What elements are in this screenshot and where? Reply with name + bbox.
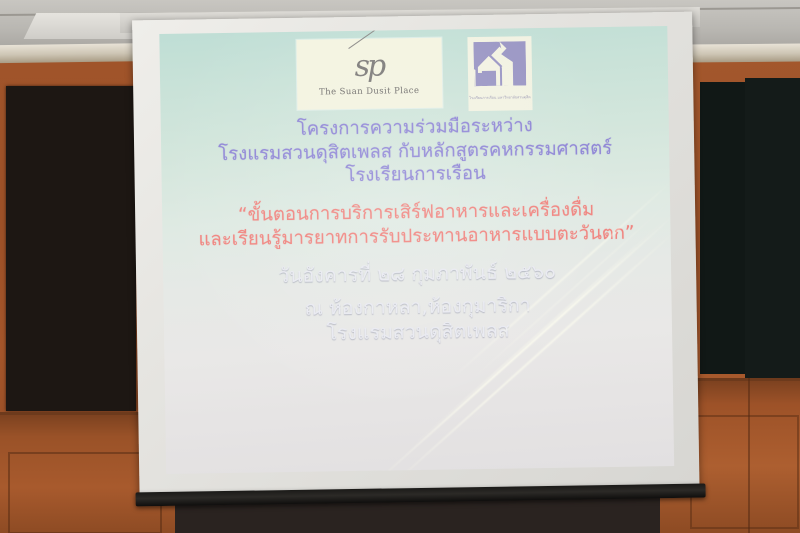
sp-monogram-text: sp xyxy=(354,48,383,83)
presentation-slide: sp The Suan Dusit Place xyxy=(159,26,674,474)
slide-text-block: โครงการความร่วมมือระหว่าง โรงแรมสวนดุสิต… xyxy=(161,112,673,349)
right-acoustic-panel-inner xyxy=(700,82,748,374)
house-icon xyxy=(473,41,526,94)
sp-monogram: sp xyxy=(354,51,383,81)
house-logo-subtext: โรงเรียนการเรือน มหาวิทยาลัยสวนดุสิต xyxy=(469,95,531,101)
home-economics-house-logo: โรงเรียนการเรือน มหาวิทยาลัยสวนดุสิต xyxy=(467,36,532,111)
suan-dusit-place-logo: sp The Suan Dusit Place xyxy=(296,38,442,110)
left-acoustic-panel xyxy=(6,86,136,411)
projection-screen: sp The Suan Dusit Place xyxy=(132,12,700,521)
slide-logo-row: sp The Suan Dusit Place xyxy=(159,34,668,116)
conference-room-scene: sp The Suan Dusit Place xyxy=(0,0,800,533)
screen-surface: sp The Suan Dusit Place xyxy=(132,12,699,499)
suan-dusit-place-caption: The Suan Dusit Place xyxy=(319,85,419,97)
right-wall-seam xyxy=(748,378,750,533)
sp-monogram-slash xyxy=(348,26,395,48)
right-wainscoting-panel xyxy=(690,415,799,529)
right-acoustic-panel xyxy=(745,78,800,378)
